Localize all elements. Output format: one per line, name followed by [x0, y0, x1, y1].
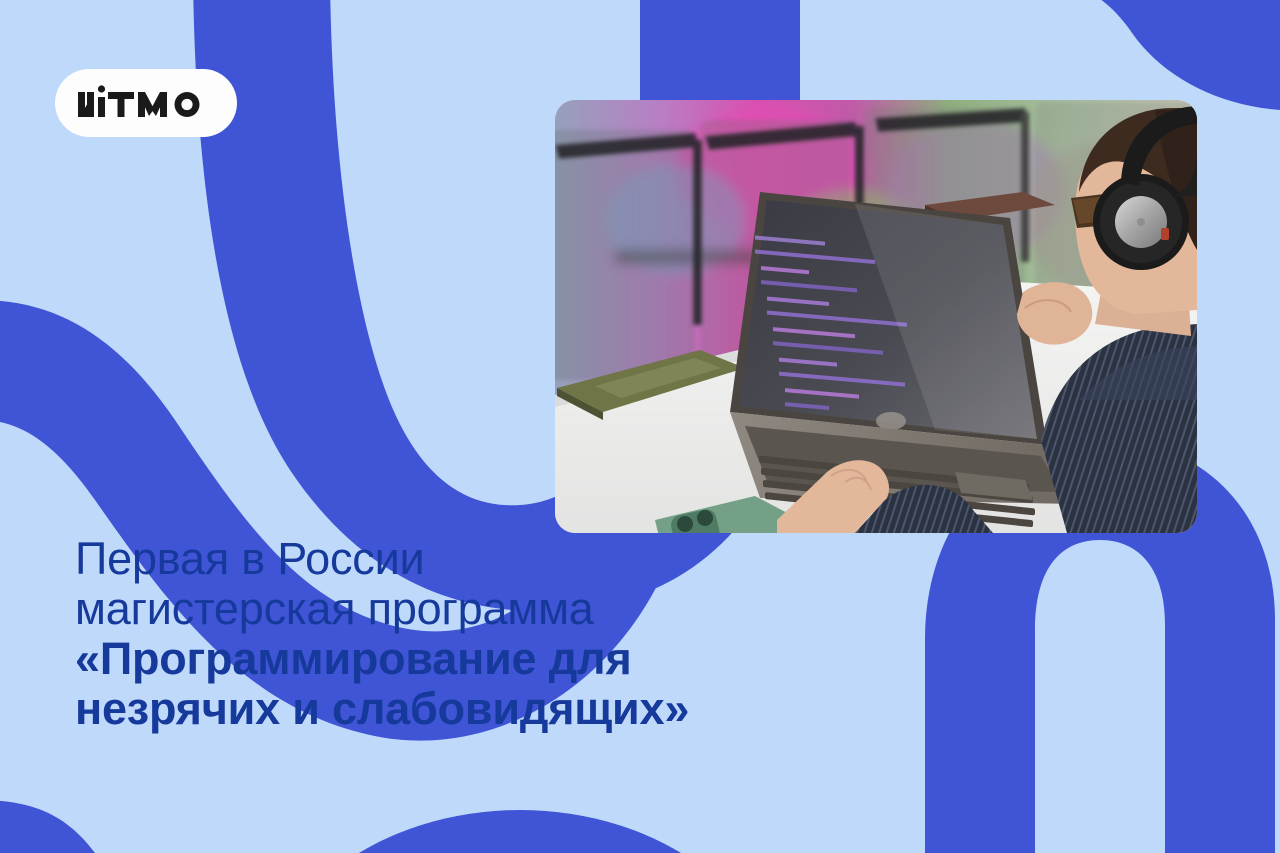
hero-photo [555, 100, 1197, 533]
itmo-logo [55, 69, 237, 137]
hero-photo-illustration [555, 100, 1197, 533]
wave-bottom-dome [260, 810, 780, 853]
headline-line-2: магистерская программа [75, 584, 915, 634]
headline-line-4: незрячих и слабовидящих» [75, 684, 915, 734]
itmo-logo-wordmark [76, 83, 216, 123]
photo-hand-right [1017, 282, 1092, 344]
headline: Первая в России магистерская программа «… [75, 534, 915, 734]
headline-line-1: Первая в России [75, 534, 915, 584]
wave-bottom-left-toe [0, 800, 95, 853]
promo-card: Первая в России магистерская программа «… [0, 0, 1280, 853]
wave-top-right [1060, 0, 1280, 110]
headline-line-3: «Программирование для [75, 634, 915, 684]
